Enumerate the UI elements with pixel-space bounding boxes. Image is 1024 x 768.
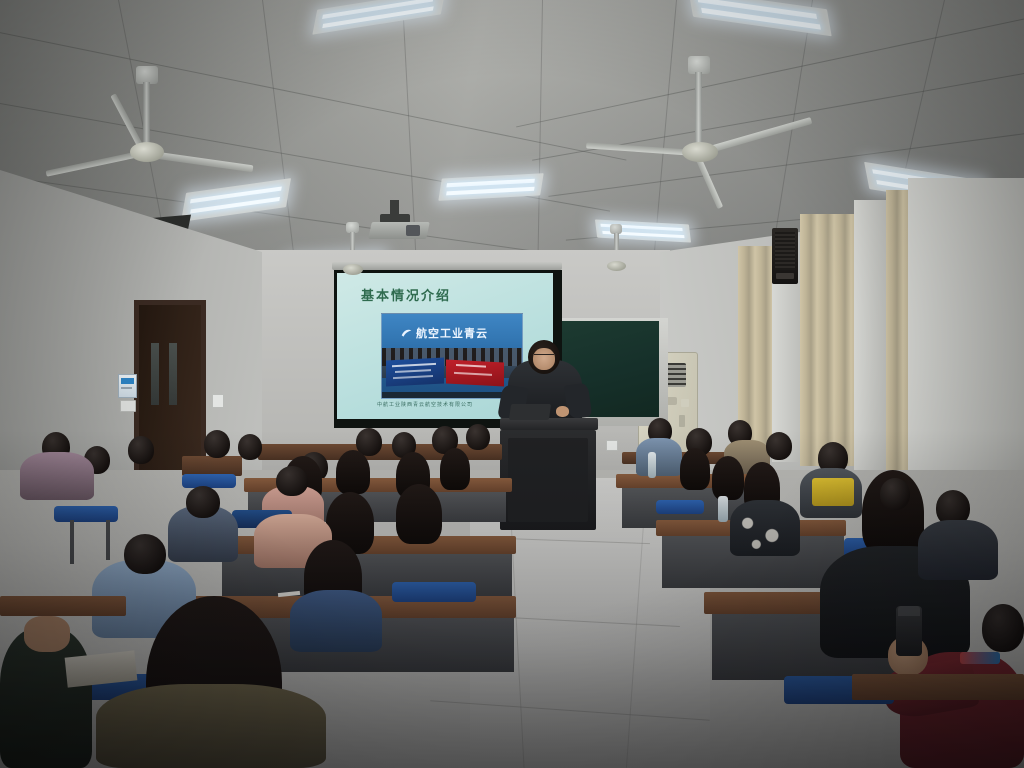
slide-photo: 航空工业青云 xyxy=(381,313,523,399)
audience-member xyxy=(20,452,94,500)
seat-cushion xyxy=(182,474,236,488)
slide-photo-caption: 中航工业陕西青云航空技术有限公司 xyxy=(377,401,473,408)
slide-title: 基本情况介绍 xyxy=(361,285,451,304)
audience-member xyxy=(918,520,998,580)
ceiling-fan xyxy=(640,56,880,176)
audience-member xyxy=(186,486,220,518)
audience-member xyxy=(396,484,442,544)
door-glass-panel xyxy=(169,343,177,405)
classroom-photo: 基本情况介绍 航空工业青云 xyxy=(0,0,1024,768)
light-switch[interactable] xyxy=(120,400,136,412)
wall-outlet[interactable] xyxy=(606,440,618,451)
audience-member xyxy=(440,448,470,490)
wall-notice-sign xyxy=(118,374,137,398)
audience-member xyxy=(204,430,230,458)
thermos-flask xyxy=(896,606,922,656)
audience-member xyxy=(982,604,1024,652)
water-bottle xyxy=(718,496,728,522)
glasses-icon xyxy=(534,354,554,359)
wall-pillar xyxy=(854,200,888,470)
audience-hand xyxy=(24,616,70,652)
seat-cushion xyxy=(656,500,704,514)
water-bottle xyxy=(648,452,656,478)
student-desk xyxy=(182,456,242,476)
wall-speaker xyxy=(772,228,798,284)
audience-member xyxy=(880,478,910,510)
audience-member xyxy=(124,534,166,574)
pencil-case xyxy=(960,652,1000,664)
student-desk xyxy=(0,596,126,616)
audience-member xyxy=(766,432,792,460)
audience-member xyxy=(128,436,154,464)
door-glass-panel xyxy=(151,343,159,405)
audience-member xyxy=(336,450,370,494)
student-desk xyxy=(852,674,1024,700)
audience-member xyxy=(712,456,744,500)
slide-photo-blue-banner xyxy=(386,358,444,387)
audience-member xyxy=(680,448,710,490)
slide-photo-banner-text: 航空工业青云 xyxy=(416,325,488,341)
chair-leg xyxy=(70,520,74,564)
presenter-head xyxy=(528,340,560,374)
presenter-face xyxy=(533,348,555,370)
wall-pillar xyxy=(908,178,1024,478)
audience-member-pattern xyxy=(736,510,794,554)
fan-hub xyxy=(682,142,718,162)
slide-photo-red-banner xyxy=(446,360,504,387)
audience-bag xyxy=(812,478,854,506)
audience-member xyxy=(238,434,262,460)
light-switch[interactable] xyxy=(212,394,224,408)
ceiling-projector xyxy=(366,200,432,244)
presenter-laptop xyxy=(509,404,551,420)
audience-member xyxy=(290,590,382,652)
audience-member xyxy=(636,438,682,476)
seat-cushion xyxy=(392,582,476,602)
lectern-front-panel xyxy=(508,438,588,522)
audience-member xyxy=(466,424,490,450)
chair-leg xyxy=(106,520,110,560)
window-curtain xyxy=(800,214,856,466)
screen-roller-housing xyxy=(332,262,562,270)
audience-member xyxy=(96,684,326,768)
avic-logo-icon xyxy=(400,326,413,338)
ceiling-fan xyxy=(100,66,300,176)
audience-member xyxy=(276,466,308,496)
presenter-hand xyxy=(556,406,569,417)
fan-hub xyxy=(130,142,164,162)
